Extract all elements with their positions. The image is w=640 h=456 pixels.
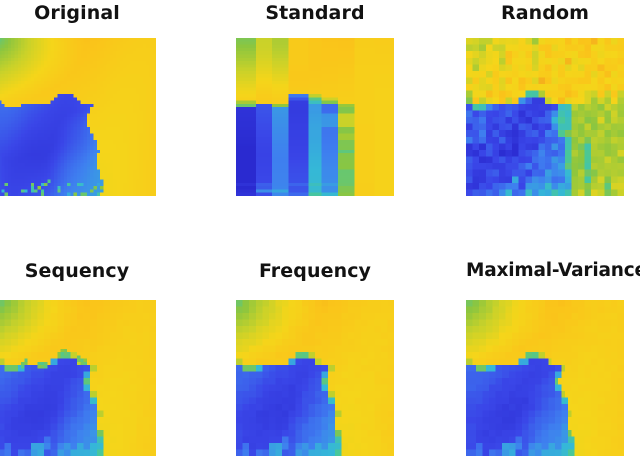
heatmap-original <box>0 38 156 196</box>
figure-grid: Original Standard Random Sequency Freque… <box>0 0 640 456</box>
panel-title-random: Random <box>466 2 624 24</box>
panel-title-original: Original <box>0 2 156 24</box>
panel-original: Original <box>0 0 156 200</box>
panel-maximal-variance: Maximal-Variance <box>466 258 624 456</box>
heatmap-random <box>466 38 624 196</box>
panel-title-standard: Standard <box>236 2 394 24</box>
panel-sequency: Sequency <box>0 258 156 456</box>
heatmap-sequency <box>0 300 156 456</box>
panel-random: Random <box>466 0 624 200</box>
heatmap-maximal-variance <box>466 300 624 456</box>
panel-title-maximal-variance: Maximal-Variance <box>466 260 624 282</box>
panel-standard: Standard <box>236 0 394 200</box>
panel-title-sequency: Sequency <box>0 260 156 282</box>
panel-frequency: Frequency <box>236 258 394 456</box>
heatmap-frequency <box>236 300 394 456</box>
heatmap-standard <box>236 38 394 196</box>
panel-title-frequency: Frequency <box>236 260 394 282</box>
